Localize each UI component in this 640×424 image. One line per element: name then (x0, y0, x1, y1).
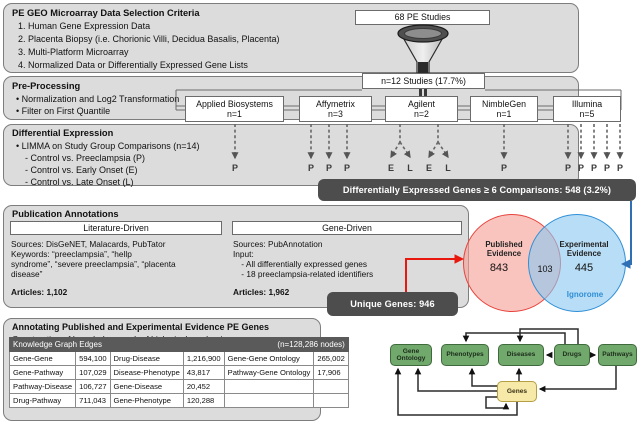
comparison-letter: P (341, 163, 353, 173)
table-header-row: Knowledge Graph Edges (n=128,286 nodes) (10, 338, 349, 352)
differential-expression-item: - Control vs. Preeclampsia (P) (16, 153, 145, 164)
table-row: Gene-Pathway 107,029 Disease-Phenotype 4… (10, 366, 349, 380)
preprocessing-title: Pre-Processing (12, 81, 80, 92)
differential-expression-title: Differential Expression (12, 128, 113, 139)
venn-value-experimental: 445 (564, 262, 604, 274)
kg-cell: Pathway-Gene Ontology (224, 366, 314, 380)
kg-cell: 1,216,900 (183, 352, 224, 366)
platform-box-nimblegen: NimbleGen n=1 (470, 96, 538, 122)
literature-driven-line: disease” (11, 269, 42, 280)
venn-label-published-line1: Published (473, 240, 535, 249)
selection-criteria-item: 4. Normalized Data or Differentially Exp… (18, 60, 248, 71)
preprocessing-item: • Normalization and Log2 Transformation (16, 94, 179, 105)
comparison-letter: L (442, 163, 454, 173)
publication-annotations-title: Publication Annotations (12, 209, 119, 220)
kg-cell: Gene-Phenotype (110, 394, 183, 408)
kg-cell: Gene-Disease (110, 380, 183, 394)
comparison-letter: E (385, 163, 397, 173)
table-row: Gene-Gene 594,100 Drug-Disease 1,216,900… (10, 352, 349, 366)
network-node-drugs: Drugs (554, 344, 590, 366)
differential-expression-item: • LIMMA on Study Group Comparisons (n=14… (16, 141, 200, 152)
kg-cell: Drug-Disease (110, 352, 183, 366)
kg-cell: Drug-Pathway (10, 394, 76, 408)
selection-criteria-title: PE GEO Microarray Data Selection Criteri… (12, 8, 200, 19)
network-node-phenotypes: Phenotypes (441, 344, 489, 366)
deg-banner: Differentially Expressed Genes ≥ 6 Compa… (318, 179, 636, 201)
comparison-letter: P (601, 163, 613, 173)
kg-cell: Pathway-Disease (10, 380, 76, 394)
knowledge-graph-table: Knowledge Graph Edges (n=128,286 nodes) … (9, 337, 349, 408)
platform-count: n=3 (328, 109, 343, 120)
kg-cell: 43,817 (183, 366, 224, 380)
network-node-gene-ontology: Gene Ontology (390, 344, 432, 366)
table-row: Pathway-Disease 106,727 Gene-Disease 20,… (10, 380, 349, 394)
funnel-output-label: n=12 Studies (17.7%) (381, 76, 466, 87)
kg-cell: Disease-Phenotype (110, 366, 183, 380)
kg-cell (224, 380, 314, 394)
kg-cell (224, 394, 314, 408)
comparison-letter: P (562, 163, 574, 173)
differential-expression-item: - Control vs. Late Onset (L) (16, 177, 134, 188)
platform-name: Affymetrix (316, 99, 355, 110)
unique-genes-banner: Unique Genes: 946 (327, 292, 458, 316)
selection-criteria-panel: PE GEO Microarray Data Selection Criteri… (3, 3, 579, 73)
platform-name: Illumina (572, 99, 602, 110)
annotating-title: Annotating Published and Experimental Ev… (12, 322, 269, 333)
table-row: Drug-Pathway 711,043 Gene-Phenotype 120,… (10, 394, 349, 408)
platform-box-illumina: Illumina n=5 (553, 96, 621, 122)
gene-driven-articles: Articles: 1,962 (233, 287, 289, 298)
comparison-letter: L (404, 163, 416, 173)
kg-cell: 120,288 (183, 394, 224, 408)
platform-box-agilent: Agilent n=2 (385, 96, 458, 122)
comparison-letter: E (423, 163, 435, 173)
kg-header-right: (n=128,286 nodes) (224, 338, 348, 352)
network-node-label: Genes (507, 388, 527, 395)
differential-expression-panel: Differential Expression • LIMMA on Study… (3, 124, 579, 186)
venn-label-published: Published Evidence (473, 240, 535, 258)
differential-expression-item: - Control vs. Early Onset (E) (16, 165, 138, 176)
kg-cell: 17,906 (314, 366, 348, 380)
platform-box-affymetrix: Affymetrix n=3 (299, 96, 372, 122)
network-node-label: Gene Ontology (397, 348, 426, 363)
kg-header-left: Knowledge Graph Edges (10, 338, 225, 352)
venn-value-published: 843 (477, 262, 521, 274)
network-node-label: Pathways (602, 351, 632, 358)
gene-driven-line: - 18 preeclampsia-related identifiers (233, 269, 373, 280)
network-node-label: Phenotypes (446, 351, 483, 358)
platform-count: n=1 (497, 109, 512, 120)
preprocessing-item: • Filter on First Quantile (16, 106, 110, 117)
venn-label-experimental-line2: Evidence (551, 249, 617, 258)
venn-label-ignorome: Ignorome (554, 290, 616, 299)
network-node-pathways: Pathways (598, 344, 637, 366)
comparison-letter: P (323, 163, 335, 173)
selection-criteria-item: 3. Multi-Platform Microarray (18, 47, 129, 58)
kg-cell: Gene-Gene (10, 352, 76, 366)
gene-driven-header: Gene-Driven (322, 223, 372, 234)
kg-cell (314, 380, 348, 394)
figure-root: PE GEO Microarray Data Selection Criteri… (0, 0, 640, 424)
comparison-letter: P (498, 163, 510, 173)
kg-cell: Gene-Pathway (10, 366, 76, 380)
platform-count: n=5 (580, 109, 595, 120)
network-node-label: Diseases (507, 351, 536, 358)
network-node-genes: Genes (497, 381, 537, 402)
selection-criteria-item: 2. Placenta Biopsy (i.e. Chorionic Villi… (18, 34, 279, 45)
venn-label-experimental-line1: Experimental (551, 240, 617, 249)
venn-label-published-line2: Evidence (473, 249, 535, 258)
platform-name: Agilent (408, 99, 435, 110)
literature-driven-header: Literature-Driven (83, 223, 149, 234)
kg-cell: 594,100 (76, 352, 110, 366)
platform-count: n=1 (227, 109, 242, 120)
network-node-diseases: Diseases (498, 344, 544, 366)
platform-box-applied-biosystems: Applied Biosystems n=1 (185, 96, 284, 122)
comparison-letter: P (614, 163, 626, 173)
comparison-letter: P (588, 163, 600, 173)
selection-criteria-item: 1. Human Gene Expression Data (18, 21, 150, 32)
kg-cell: 20,452 (183, 380, 224, 394)
platform-name: NimbleGen (482, 99, 526, 110)
venn-value-intersection: 103 (531, 264, 559, 274)
kg-cell (314, 394, 348, 408)
kg-cell: 711,043 (76, 394, 110, 408)
comparison-letter: P (229, 163, 241, 173)
gene-driven-header-box: Gene-Driven (232, 221, 462, 235)
literature-driven-articles: Articles: 1,102 (11, 287, 67, 298)
platform-name: Applied Biosystems (196, 99, 273, 110)
comparison-letter: P (305, 163, 317, 173)
literature-driven-header-box: Literature-Driven (10, 221, 222, 235)
funnel-output-box: n=12 Studies (17.7%) (362, 73, 485, 89)
platform-count: n=2 (414, 109, 429, 120)
kg-cell: 106,727 (76, 380, 110, 394)
funnel-input-box: 68 PE Studies (355, 10, 490, 25)
kg-cell: Gene-Gene Ontology (224, 352, 314, 366)
comparison-letter: P (575, 163, 587, 173)
funnel-input-label: 68 PE Studies (395, 12, 451, 23)
venn-label-experimental: Experimental Evidence (551, 240, 617, 258)
kg-cell: 265,002 (314, 352, 348, 366)
network-node-label: Drugs (562, 351, 581, 358)
kg-cell: 107,029 (76, 366, 110, 380)
network-edges (398, 329, 616, 415)
